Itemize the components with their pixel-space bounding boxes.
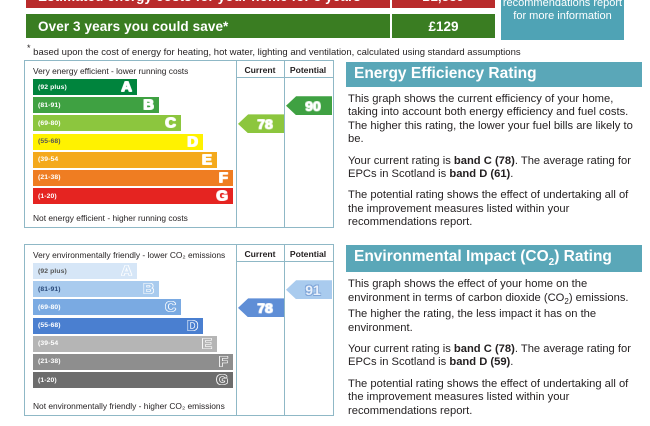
band-range-d: (55-68) (33, 322, 61, 329)
co2-p2-end: . (510, 356, 513, 368)
recommendations-note-box: see your recommendations report for more… (501, 0, 624, 40)
band-row-g: (1-20)G (33, 372, 233, 388)
co2-p2-band-average: band D (59) (449, 356, 510, 368)
column-divider-potential (284, 61, 285, 227)
column-header-underline-current-co2 (236, 261, 285, 262)
energy-panel-paragraph-3: The potential rating shows the effect of… (348, 189, 640, 229)
co2-panel-title-tail: ) Rating (554, 248, 612, 265)
band-row-g: (1-20)G (33, 188, 233, 204)
chart-caption-bottom: Not energy efficient - higher running co… (33, 213, 188, 223)
band-range-d: (55-68) (33, 138, 61, 145)
chart-caption-top: Very energy efficient - lower running co… (33, 66, 188, 76)
potential-rating-arrow: 90 (286, 96, 332, 115)
column-header-current-co2: Current (236, 249, 284, 259)
band-letter-f: F (219, 354, 228, 369)
savings-label: Over 3 years you could save* (26, 19, 390, 34)
band-range-g: (1-20) (33, 193, 57, 200)
environmental-impact-panel: Environmental Impact (CO2) Rating This g… (346, 245, 642, 426)
band-range-b: (81-91) (33, 286, 61, 293)
energy-panel-paragraph-1: This graph shows the current efficiency … (348, 93, 640, 147)
column-divider-potential-co2 (284, 245, 285, 415)
p2-band-average: band D (61) (449, 168, 510, 180)
energy-band-list: (92 plus)A(81-91)B(69-80)C(55-68)D(39-54… (33, 79, 233, 206)
energy-panel-body: This graph shows the current efficiency … (346, 87, 642, 230)
current-rating-arrow: 78 (238, 114, 284, 133)
band-range-f: (21-38) (33, 358, 61, 365)
co2-panel-paragraph-1: This graph shows the effect of your home… (348, 278, 640, 335)
column-header-potential: Potential (284, 65, 332, 75)
co2-panel-paragraph-3: The potential rating shows the effect of… (348, 378, 640, 418)
band-letter-c: C (165, 116, 176, 131)
band-range-c: (69-80) (33, 120, 61, 127)
column-header-underline-potential-co2 (284, 261, 333, 262)
band-letter-b: B (143, 98, 154, 113)
p2-pre: Your current rating is (348, 155, 454, 167)
band-range-e: (39-54 (33, 340, 58, 347)
column-header-underline-current (236, 77, 285, 78)
band-row-a: (92 plus)A (33, 79, 137, 95)
co2-p1-pre: This graph shows the effect of your home… (348, 278, 587, 303)
band-row-a: (92 plus)A (33, 263, 137, 279)
band-range-c: (69-80) (33, 304, 61, 311)
potential-rating-arrow-co2: 91 (286, 280, 332, 299)
band-range-a: (92 plus) (33, 268, 67, 275)
co2-band-list: (92 plus)A(81-91)B(69-80)C(55-68)D(39-54… (33, 263, 233, 390)
chart-caption-top-co2: Very environmentally friendly - lower CO… (33, 250, 225, 260)
band-row-f: (21-38)F (33, 170, 233, 186)
environmental-impact-chart: Very environmentally friendly - lower CO… (24, 244, 334, 416)
co2-p2-pre: Your current rating is (348, 343, 454, 355)
band-letter-f: F (219, 170, 228, 185)
band-range-e: (39-54 (33, 156, 58, 163)
estimated-cost-label: Estimated energy costs for your home for… (26, 0, 390, 4)
band-row-c: (69-80)C (33, 115, 181, 131)
band-letter-c: C (165, 300, 176, 315)
co2-panel-body: This graph shows the effect of your home… (346, 272, 642, 418)
band-row-d: (55-68)D (33, 318, 203, 334)
energy-efficiency-chart: Very energy efficient - lower running co… (24, 60, 334, 228)
co2-panel-paragraph-2: Your current rating is band C (78). The … (348, 343, 640, 370)
column-divider-current (236, 61, 237, 227)
band-range-f: (21-38) (33, 174, 61, 181)
footnote-text: based upon the cost of energy for heatin… (33, 47, 520, 58)
energy-cost-table: Estimated energy costs for your home for… (24, 0, 624, 42)
chart-caption-bottom-co2: Not environmentally friendly - higher CO… (33, 401, 225, 411)
current-rating-arrow-co2: 78 (238, 298, 284, 317)
band-letter-d: D (187, 134, 198, 149)
band-letter-g: G (216, 189, 228, 204)
estimated-cost-row: Estimated energy costs for your home for… (24, 0, 497, 10)
p2-band-current: band C (78) (454, 155, 515, 167)
band-row-d: (55-68)D (33, 134, 203, 150)
footnote-asterisk: * (27, 43, 31, 53)
band-letter-e: E (202, 152, 212, 167)
savings-row: Over 3 years you could save* £129 (24, 12, 497, 40)
band-row-e: (39-54E (33, 336, 217, 352)
band-letter-g: G (216, 373, 228, 388)
band-range-b: (81-91) (33, 102, 61, 109)
band-range-a: (92 plus) (33, 84, 67, 91)
p2-end: . (510, 168, 513, 180)
savings-value: £129 (390, 14, 495, 38)
band-letter-e: E (202, 336, 212, 351)
column-header-current: Current (236, 65, 284, 75)
band-letter-a: A (121, 264, 132, 279)
band-row-c: (69-80)C (33, 299, 181, 315)
band-row-e: (39-54E (33, 152, 217, 168)
co2-p2-band-current: band C (78) (454, 343, 515, 355)
column-header-potential-co2: Potential (284, 249, 332, 259)
band-letter-b: B (143, 282, 154, 297)
energy-panel-paragraph-2: Your current rating is band C (78). The … (348, 155, 640, 182)
band-row-b: (81-91)B (33, 97, 159, 113)
energy-panel-title: Energy Efficiency Rating (346, 62, 642, 87)
column-header-underline-potential (284, 77, 333, 78)
band-row-b: (81-91)B (33, 281, 159, 297)
column-divider-current-co2 (236, 245, 237, 415)
band-letter-a: A (121, 80, 132, 95)
estimated-cost-value: £1,539 (390, 0, 495, 8)
co2-panel-title: Environmental Impact (CO2) Rating (346, 245, 642, 272)
band-row-f: (21-38)F (33, 354, 233, 370)
co2-panel-title-main: Environmental Impact (CO (354, 248, 549, 265)
band-range-g: (1-20) (33, 377, 57, 384)
energy-efficiency-panel: Energy Efficiency Rating This graph show… (346, 62, 642, 238)
cost-footnote: * based upon the cost of energy for heat… (27, 43, 521, 58)
band-letter-d: D (187, 318, 198, 333)
